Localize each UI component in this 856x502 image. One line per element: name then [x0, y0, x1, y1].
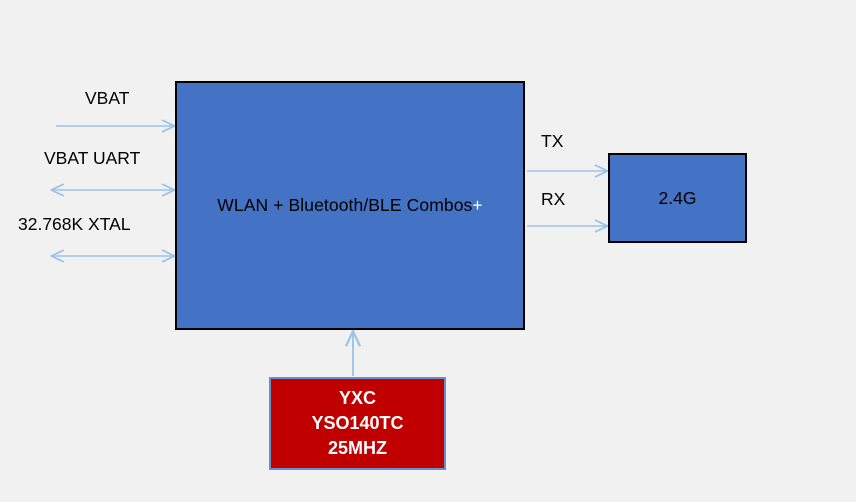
label-tx: TX [541, 131, 563, 152]
diagram-canvas: VBAT VBAT UART 32.768K XTAL TX RX WLAN +… [0, 0, 856, 502]
label-vbat: VBAT [85, 88, 129, 109]
block-crystal-yxc[interactable]: YXC YSO140TC 25MHZ [269, 377, 446, 470]
label-32768k-xtal: 32.768K XTAL [18, 214, 131, 235]
block-crystal-line-3: 25MHZ [328, 436, 387, 461]
block-crystal-line-1: YXC [339, 386, 376, 411]
label-rx: RX [541, 189, 565, 210]
block-2-4g[interactable]: 2.4G [608, 153, 747, 243]
label-vbat-uart: VBAT UART [44, 148, 140, 169]
block-crystal-line-2: YSO140TC [311, 411, 403, 436]
block-main-label-text: WLAN + Bluetooth/BLE Combos [217, 195, 472, 215]
block-2-4g-label: 2.4G [659, 188, 697, 209]
block-main-label: WLAN + Bluetooth/BLE Combos+ [217, 195, 482, 216]
block-main-label-plus: + [472, 195, 482, 215]
block-wlan-bluetooth-combo[interactable]: WLAN + Bluetooth/BLE Combos+ [175, 81, 525, 330]
